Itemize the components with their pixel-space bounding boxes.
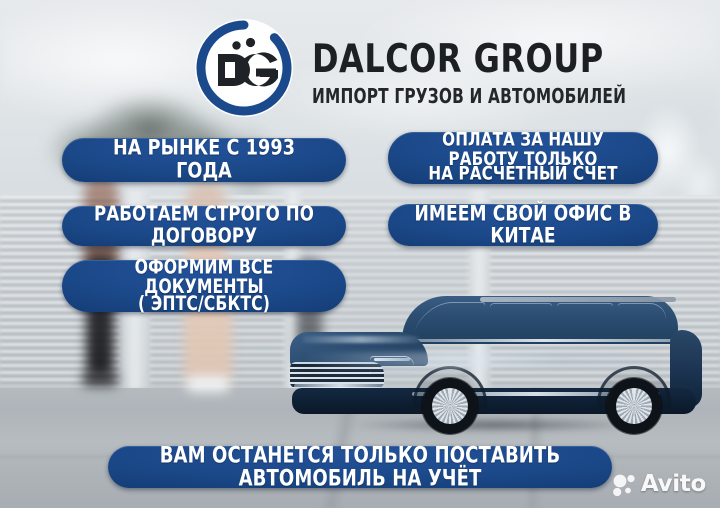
badge-registration: ВАМ ОСТАНЕТСЯ ТОЛЬКО ПОСТАВИТЬ АВТОМОБИЛ… [108,446,612,488]
badge-registration-label: ВАМ ОСТАНЕТСЯ ТОЛЬКО ПОСТАВИТЬ АВТОМОБИЛ… [134,444,586,491]
dg-monogram-circle-logo [192,16,296,120]
car-body-reflection [304,352,664,368]
car-side-mirror [470,336,496,349]
badge-work-by-contract-label: РАБОТАЕМ СТРОГО ПО ДОГОВОРУ [82,204,325,247]
car-quarter-window [618,303,666,334]
car-chrome-trim [414,339,672,342]
brand-text-block: DALCOR GROUP ИМПОРТ ГРУЗОВ И АВТОМОБИЛЕЙ [312,33,650,104]
car-bumper-chrome [294,384,386,388]
badge-work-by-contract: РАБОТАЕМ СТРОГО ПО ДОГОВОРУ [62,206,346,246]
brand-subtitle: ИМПОРТ ГРУЗОВ И АВТОМОБИЛЕЙ [312,87,626,107]
car-photo [284,296,704,434]
brand-header: DALCOR GROUP ИМПОРТ ГРУЗОВ И АВТОМОБИЛЕЙ [192,16,650,120]
badge-office-in-china-label: ИМЕЕМ СВОЙ ОФИС В КИТАЕ [408,203,638,247]
avito-watermark: Avito [612,473,706,496]
badge-office-in-china: ИМЕЕМ СВОЙ ОФИС В КИТАЕ [388,204,658,246]
badge-payment-method: ОПЛАТА ЗА НАШУ РАБОТУ ТОЛЬКО НА РАСЧЁТНЫ… [388,132,658,184]
car-hood-highlight [302,336,420,343]
badge-documents-label-line2: ( ЭПТС/СБКТС) [82,293,325,313]
badge-payment-label-line2: НА РАСЧЁТНЫЙ СЧЕТ [408,165,638,185]
background-pedestrian [186,376,230,392]
brand-name: DALCOR GROUP [312,39,640,78]
badge-documents: ОФОРМИМ ВСЕ ДОКУМЕНТЫ ( ЭПТС/СБКТС) [62,260,346,312]
badge-years-on-market-label: НА РЫНКЕ С 1993 ГОДА [82,137,325,182]
car-front-wheel [422,378,478,434]
car-rear-wheel [606,378,662,434]
badge-years-on-market: НА РЫНКЕ С 1993 ГОДА [62,138,346,182]
badge-payment-lines: ОПЛАТА ЗА НАШУ РАБОТУ ТОЛЬКО НА РАСЧЁТНЫ… [402,133,644,184]
avito-wordmark: Avito [641,473,706,496]
car-front-window [490,303,552,337]
car-front-bumper [288,386,398,412]
badge-documents-lines: ОФОРМИМ ВСЕ ДОКУМЕНТЫ ( ЭПТС/СБКТС) [76,260,332,312]
background-pedestrian [82,372,118,386]
avito-dots-logo [612,474,636,496]
car-roof-rail [480,297,676,302]
advertisement-banner: DALCOR GROUP ИМПОРТ ГРУЗОВ И АВТОМОБИЛЕЙ… [0,0,720,508]
car-rear-window [557,303,613,336]
